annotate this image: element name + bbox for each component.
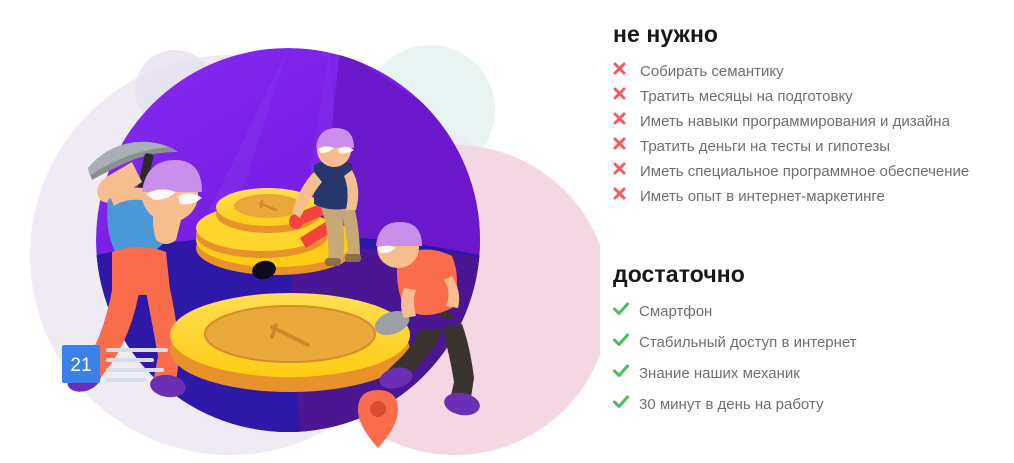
list-item: Тратить месяцы на подготовку — [613, 87, 969, 112]
badge-21-number: 21 — [70, 355, 91, 376]
cross-icon — [613, 162, 637, 175]
cross-icon — [613, 137, 637, 150]
list-item-label: Иметь специальное программное обеспечени… — [637, 162, 969, 179]
list-item-label: Тратить месяцы на подготовку — [637, 87, 853, 104]
coin-large — [170, 293, 410, 392]
check-icon — [613, 302, 637, 316]
check-icon — [613, 395, 637, 409]
list-item: Иметь специальное программное обеспечени… — [613, 162, 969, 187]
list-item: Стабильный доступ в интернет — [613, 333, 857, 364]
check-icon — [613, 364, 637, 378]
list-item-label: Смартфон — [637, 302, 712, 319]
cross-icon — [613, 112, 637, 125]
list-item: Смартфон — [613, 302, 857, 333]
list-item: Иметь опыт в интернет-маркетинге — [613, 187, 969, 212]
not-needed-heading: не нужно — [613, 21, 718, 48]
enough-heading: достаточно — [613, 261, 745, 288]
check-icon — [613, 333, 637, 347]
list-item: Тратить деньги на тесты и гипотезы — [613, 137, 969, 162]
list-item-label: Иметь опыт в интернет-маркетинге — [637, 187, 885, 204]
requirements-content: не нужно Собирать семантику Тратить меся… — [600, 0, 1014, 463]
list-item: Иметь навыки программирования и дизайна — [613, 112, 969, 137]
list-item: Собирать семантику — [613, 62, 969, 87]
list-item: 30 минут в день на работу — [613, 395, 857, 426]
cross-icon — [613, 62, 637, 75]
list-item-label: Знание наших механик — [637, 364, 800, 381]
list-item-label: Стабильный доступ в интернет — [637, 333, 857, 350]
crypto-mining-illustration: 21 — [0, 0, 600, 463]
list-item-label: Тратить деньги на тесты и гипотезы — [637, 137, 890, 154]
page-root: 21 не нужно Собирать семантику — [0, 0, 1014, 463]
list-item: Знание наших механик — [613, 364, 857, 395]
list-item-label: Собирать семантику — [637, 62, 784, 79]
enough-list: Смартфон Стабильный доступ в интернет Зн… — [613, 302, 857, 426]
cross-icon — [613, 87, 637, 100]
list-item-label: 30 минут в день на работу — [637, 395, 823, 412]
cross-icon — [613, 187, 637, 200]
not-needed-list: Собирать семантику Тратить месяцы на под… — [613, 62, 969, 212]
list-item-label: Иметь навыки программирования и дизайна — [637, 112, 950, 129]
